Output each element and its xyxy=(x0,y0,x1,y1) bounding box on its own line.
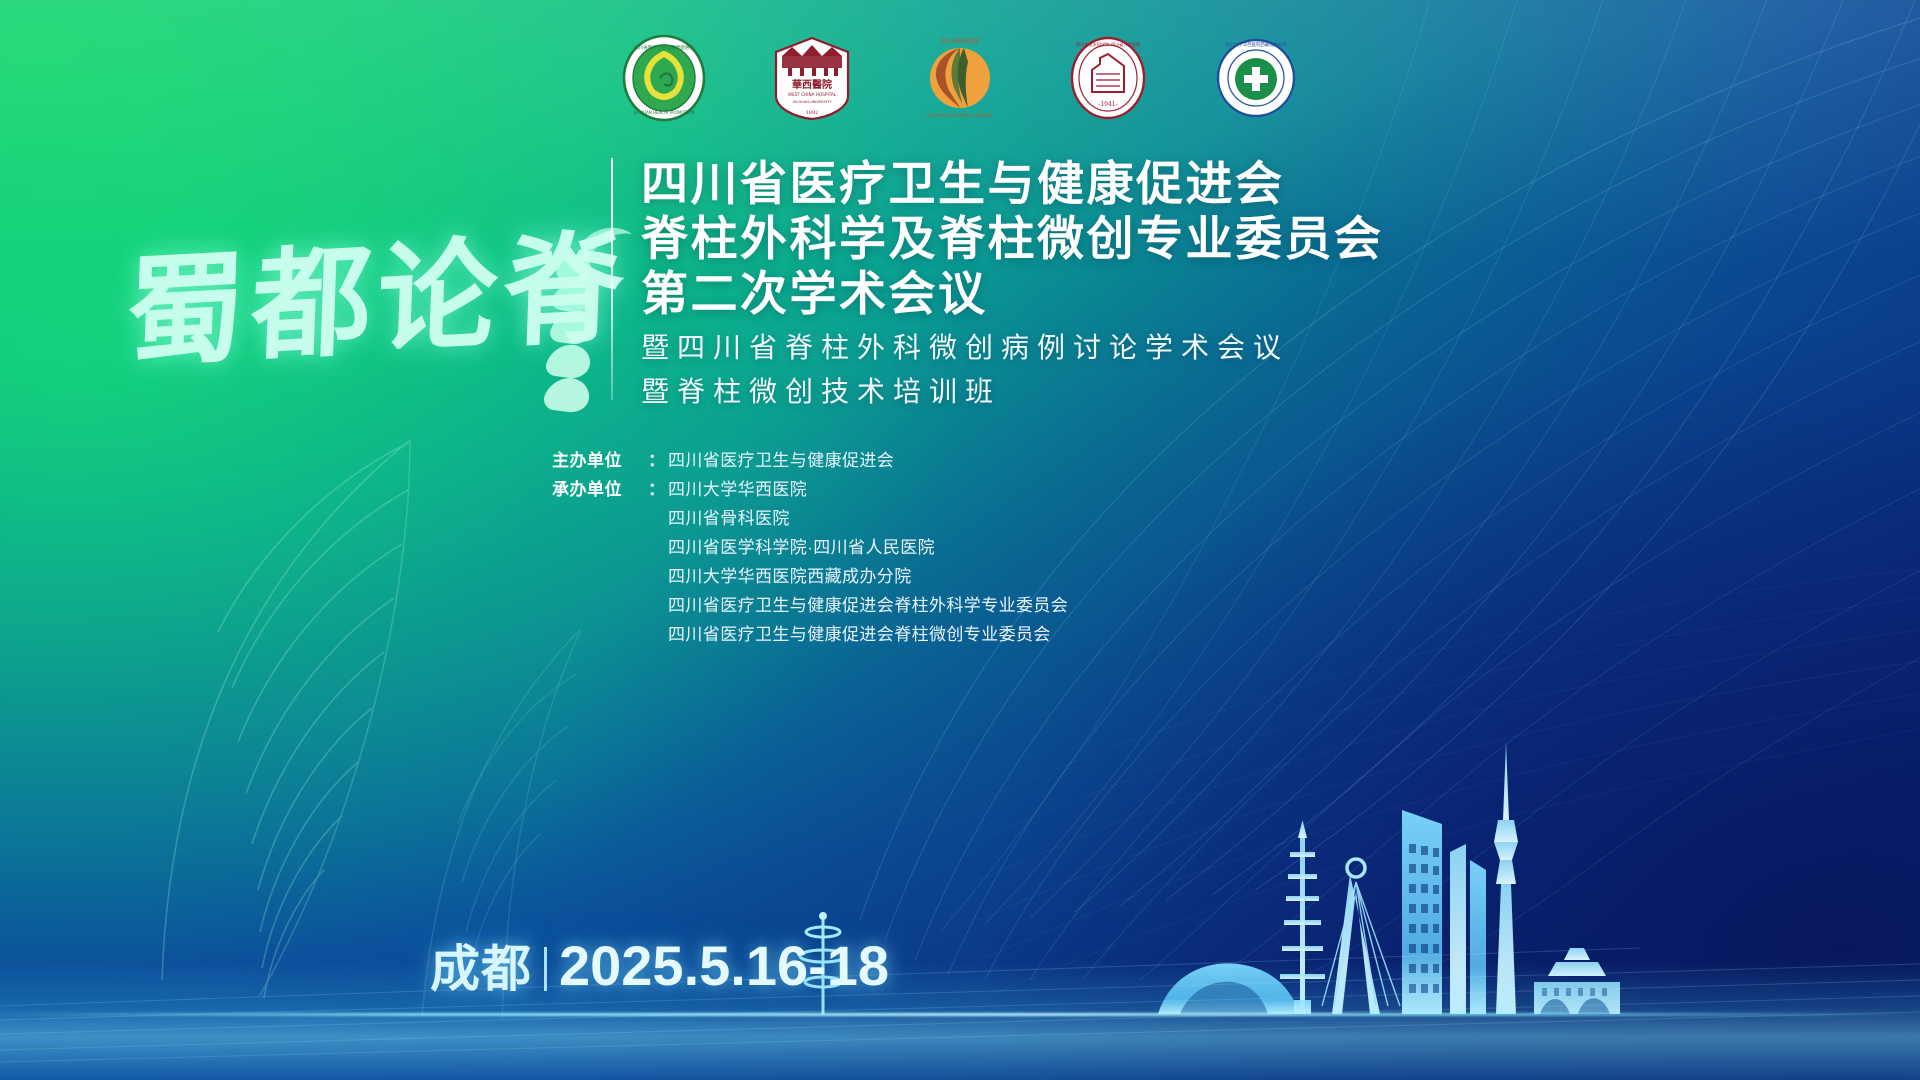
subtitle-line-2: 暨脊柱微创技术培训班 xyxy=(641,370,1821,414)
sichuan-health-promotion-association-logo: 四川省医疗卫生与健康促进会 SICHUAN HEALTH PROMOTION xyxy=(620,34,708,122)
calligraphy-text: 蜀都论脊 xyxy=(114,146,642,434)
organizer-colon: ： xyxy=(648,475,665,500)
svg-text:SICHUAN HEALTH PROMOTION: SICHUAN HEALTH PROMOTION xyxy=(634,110,695,115)
organizer-row: 承办单位 ： 四川省医疗卫生与健康促进会脊柱微创专业委员会 xyxy=(552,620,1452,649)
organizer-row: 承办单位 ： 四川大学华西医院西藏成办分院 xyxy=(552,562,1452,591)
west-china-tibet-chengdu-branch-logo: 四川大学华西医院西藏成办分院 xyxy=(1212,34,1300,122)
title-line-3: 第二次学术会议 xyxy=(641,266,1821,321)
organizer-value: 四川大学华西医院西藏成办分院 xyxy=(668,562,912,587)
date-separator xyxy=(544,947,547,991)
shudu-lunji-calligraphy: 蜀都论脊 xyxy=(118,160,638,420)
svg-text:WEST CHINA HOSPITAL: WEST CHINA HOSPITAL xyxy=(788,92,837,97)
organizer-colon: ： xyxy=(648,446,665,471)
organizer-label: 主办单位 xyxy=(552,446,648,471)
svg-text:-1941-: -1941- xyxy=(1098,101,1117,108)
ground-glow xyxy=(0,962,1920,1080)
title-line-1: 四川省医疗卫生与健康促进会 xyxy=(641,156,1821,211)
title-line-2: 脊柱外科学及脊柱微创专业委员会 xyxy=(641,211,1821,266)
title-block: 四川省医疗卫生与健康促进会 脊柱外科学及脊柱微创专业委员会 第二次学术会议 xyxy=(641,156,1821,321)
organizer-value: 四川省医学科学院·四川省人民医院 xyxy=(668,533,935,558)
svg-text:華西醫院: 華西醫院 xyxy=(792,78,832,91)
ground-horizon-line xyxy=(0,1013,1920,1016)
sichuan-orthopedic-hospital-logo: 四川省骨科医院 SICHUAN ORTHOPEDIC HOSPITAL xyxy=(916,34,1004,122)
svg-text:四川大学华西医院西藏成办分院: 四川大学华西医院西藏成办分院 xyxy=(1225,41,1287,48)
organizer-row: 承办单位 ： 四川省骨科医院 xyxy=(552,504,1452,533)
svg-text:SICHUAN UNIVERSITY: SICHUAN UNIVERSITY xyxy=(793,100,833,104)
svg-text:四川省医疗卫生与健康促进会: 四川省医疗卫生与健康促进会 xyxy=(634,44,694,51)
title-divider xyxy=(611,158,613,400)
city-label: 成都 xyxy=(430,944,532,994)
organizer-value: 四川省医疗卫生与健康促进会 xyxy=(668,446,894,471)
svg-text:SICHUAN ORTHOPEDIC HOSPITAL: SICHUAN ORTHOPEDIC HOSPITAL xyxy=(927,113,994,118)
organizer-value: 四川省医疗卫生与健康促进会脊柱微创专业委员会 xyxy=(668,620,1051,645)
poster-canvas: 四川省医疗卫生与健康促进会 SICHUAN HEALTH PROMOTION 華… xyxy=(0,0,1920,1080)
organizers-block: 主办单位 ： 四川省医疗卫生与健康促进会 承办单位 ： 四川大学华西医院 承办单… xyxy=(552,446,1452,649)
sichuan-academy-medical-sciences-logo: -1941- 四川省医学科学院·四川省人民医院 xyxy=(1064,34,1152,122)
subtitle-line-1: 暨四川省脊柱外科微创病例讨论学术会议 xyxy=(641,326,1821,370)
date-location-bar: 成都 2025.5.16-18 xyxy=(430,938,889,994)
organizer-value: 四川大学华西医院 xyxy=(668,475,807,500)
organizer-label: 承办单位 xyxy=(552,475,648,500)
organizer-row: 承办单位 ： 四川省医疗卫生与健康促进会脊柱外科学专业委员会 xyxy=(552,591,1452,620)
svg-text:四川省骨科医院: 四川省骨科医院 xyxy=(941,37,979,45)
svg-text:四川省医学科学院·四川省人民医院: 四川省医学科学院·四川省人民医院 xyxy=(1076,41,1141,48)
svg-text:1892: 1892 xyxy=(806,110,819,116)
west-china-hospital-logo: 華西醫院 WEST CHINA HOSPITAL SICHUAN UNIVERS… xyxy=(768,34,856,122)
subtitle-block: 暨四川省脊柱外科微创病例讨论学术会议 暨脊柱微创技术培训班 xyxy=(641,326,1821,414)
organizer-row: 承办单位 ： 四川大学华西医院 xyxy=(552,475,1452,504)
organizer-value: 四川省骨科医院 xyxy=(668,504,790,529)
organizer-value: 四川省医疗卫生与健康促进会脊柱外科学专业委员会 xyxy=(668,591,1068,616)
organizer-row: 主办单位 ： 四川省医疗卫生与健康促进会 xyxy=(552,446,1452,475)
sponsor-logos-row: 四川省医疗卫生与健康促进会 SICHUAN HEALTH PROMOTION 華… xyxy=(0,34,1920,122)
conference-dates: 2025.5.16-18 xyxy=(559,938,889,994)
organizer-row: 承办单位 ： 四川省医学科学院·四川省人民医院 xyxy=(552,533,1452,562)
